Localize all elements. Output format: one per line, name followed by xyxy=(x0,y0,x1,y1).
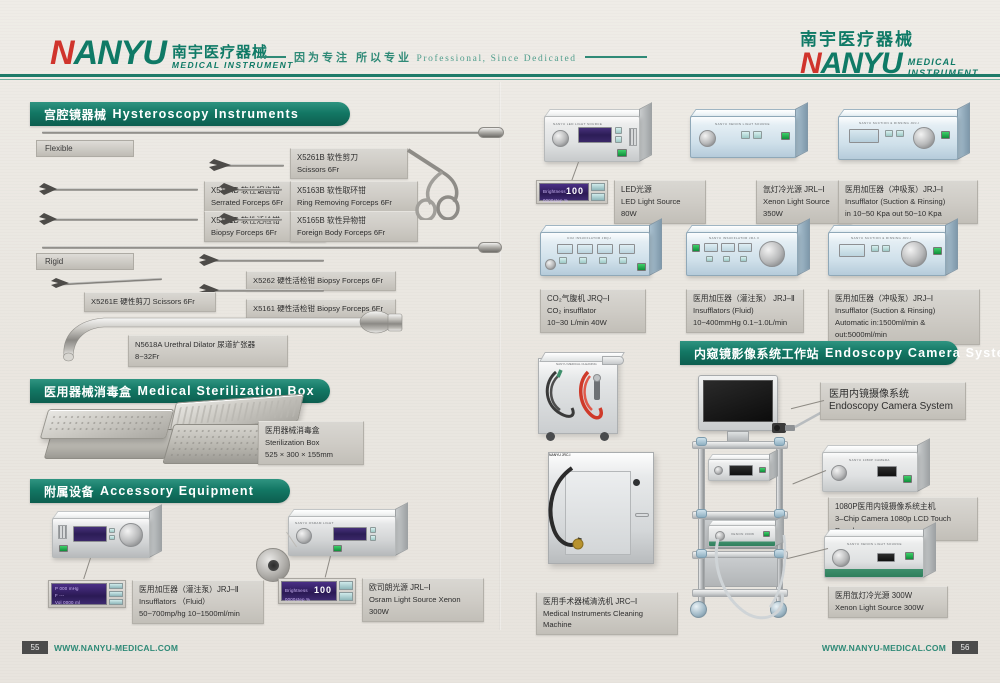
cleaning-machine-handle[interactable] xyxy=(635,513,649,517)
tray-lid-closed xyxy=(40,409,175,439)
lcd-key-up-osram[interactable] xyxy=(339,581,353,590)
device-power-suction1[interactable] xyxy=(941,131,950,139)
device-1080p-camera: NANYU 1080P CAMERA xyxy=(822,452,918,492)
device-roller-knob-suction2[interactable] xyxy=(901,241,927,267)
device-co2-insufflator: CO2 INSUFFLATOR JRQ-I xyxy=(540,232,650,276)
page-number-left: 55 xyxy=(22,641,48,654)
label-insufflator-fluid-2: 医用加压器（灌注泵） JRJ–Ⅱ Insufflators (Fluid) 10… xyxy=(686,289,804,333)
lcd-line-3: Vol 0000 ml xyxy=(55,600,80,605)
catalog-page: NANYU 南宇医疗器械 MEDICAL INSTRUMENT 因为专注 所以专… xyxy=(0,0,1000,683)
trolley-brand-text: NANYU MEDICAL CLEANING xyxy=(556,362,597,366)
label-sterilization-cn: 医用器械消毒盒 xyxy=(265,425,357,437)
label-suction2-cn: 医用加压器（冲吸泵）JRJ–Ⅰ xyxy=(835,293,973,305)
label-suction2-en: Insufflator (Suction & Rinsing) xyxy=(835,305,973,317)
device-button-1-co2[interactable] xyxy=(559,257,567,264)
device-side-face xyxy=(149,504,162,558)
instrument-shaft-biopsy-flex xyxy=(48,218,198,221)
trolley-tray xyxy=(602,356,624,365)
section-accessory-cn: 附属设备 xyxy=(44,483,94,500)
device-side-co2 xyxy=(649,218,662,276)
endoscope-head-illustration xyxy=(768,409,828,449)
device-display-3-fluid2 xyxy=(738,243,752,252)
instrument-shaft-serrated xyxy=(48,188,198,191)
camera-front: NANYU 1080P CAMERA xyxy=(822,452,918,492)
label-osram-cn: 欧司朗光源 JRL–Ⅰ xyxy=(369,582,477,594)
jaw-icon-scissors-flex xyxy=(208,156,232,174)
endoscopy-cart: XENON 300W xyxy=(690,375,830,620)
device-brand-text-led: NANYU LED LIGHT SOURCE xyxy=(553,122,602,126)
device-display-1-co2 xyxy=(557,244,573,254)
ccu-power[interactable] xyxy=(759,467,766,473)
cart-xenon-front: NANYU XENON LIGHT SOURCE xyxy=(824,536,924,578)
label-co2-cn: CO₂气腹机 JRQ–Ⅰ xyxy=(547,293,639,305)
device-side-face-osram xyxy=(395,502,408,556)
label-suction1-spec: in 10~50 Kpa out 50~10 Kpa xyxy=(845,208,971,220)
cart-joint-3 xyxy=(696,509,707,518)
footer-url-right[interactable]: WWW.NANYU-MEDICAL.COM xyxy=(822,641,946,654)
cart-cable-illustration xyxy=(710,535,810,627)
lcd-key-down-osram[interactable] xyxy=(339,592,353,601)
device-front-face-osram: NANYU OSRAM LIGHT xyxy=(288,516,396,556)
camera-brand-text: NANYU 1080P CAMERA xyxy=(849,458,890,462)
state-label-rigid: Rigid xyxy=(36,253,134,270)
label-insufflator-cn: 医用加压器（灌注泵）JRJ–Ⅱ xyxy=(139,584,257,596)
section-camera-cn: 内窥镜影像系统工作站 xyxy=(694,345,819,362)
rigid-scope-handle xyxy=(478,242,502,253)
leader-line-led xyxy=(571,162,579,181)
label-co2-spec: 10~30 L/min 40W xyxy=(547,317,639,329)
device-front-suction2: NANYU SUCTION & RINSING JRJ-I xyxy=(828,232,946,276)
device-button-up-osram[interactable] xyxy=(370,527,376,533)
device-xenon-light-source: NANYU XENON LIGHT SOURCE xyxy=(690,116,796,158)
camera-power[interactable] xyxy=(903,475,912,483)
label-insufflator-fluid: 医用加压器（灌注泵）JRJ–Ⅱ Insufflators （Fluid） 50~… xyxy=(132,580,264,624)
device-button-down[interactable] xyxy=(109,535,115,540)
label-sterilization-en: Sterilization Box xyxy=(265,437,357,449)
device-brand-text-xenon: NANYU XENON LIGHT SOURCE xyxy=(715,122,770,126)
device-button-3-fluid2[interactable] xyxy=(740,256,747,262)
page-header: NANYU 南宇医疗器械 MEDICAL INSTRUMENT 因为专注 所以专… xyxy=(0,0,1000,82)
brand-logo-right: 南宇医疗器械 NANYU MEDICAL INSTRUMENT xyxy=(800,30,979,79)
device-insufflator-fluid-2: NANYU INSUFFLATOR JRJ-II xyxy=(686,232,798,276)
label-insufflator-en: Insufflators （Fluid） xyxy=(139,596,257,608)
lcd-keys-osram[interactable] xyxy=(339,581,353,601)
ccu-front xyxy=(708,459,770,481)
device-button-3-co2[interactable] xyxy=(599,257,607,264)
lcd-callout-led: Brightness 100 0000step % xyxy=(536,180,608,204)
tray-perforations-closed xyxy=(46,414,168,434)
cart-xenon-brand-text: NANYU XENON LIGHT SOURCE xyxy=(847,542,902,546)
brand-tagline: 因为专注 所以专业 Professional, Since Dedicated xyxy=(258,48,647,66)
device-vent-led xyxy=(629,128,637,146)
label-fluid2-cn: 医用加压器（灌注泵） JRJ–Ⅱ xyxy=(693,293,797,305)
device-roller-knob-suction1[interactable] xyxy=(913,127,935,149)
lcd-sub-led: 0000step % xyxy=(543,198,568,203)
label-foreign-en: Foreign Body Forceps 6Fr xyxy=(297,227,411,239)
leader-line-osram xyxy=(325,556,331,578)
header-rule-secondary xyxy=(0,79,1000,80)
label-endoscopy-camera-system: 医用内镜摄像系统 Endoscopy Camera System xyxy=(820,382,966,420)
cart-xenon-side xyxy=(923,522,936,578)
leader-line-insufflator xyxy=(83,558,91,579)
lcd-key-2[interactable] xyxy=(109,591,123,597)
cart-xenon-power[interactable] xyxy=(905,552,914,560)
section-hysteroscopy-en: Hysteroscopy Instruments xyxy=(113,107,299,121)
device-brand-text-suction1: NANYU SUCTION & RINSING JRJ-I xyxy=(859,121,919,125)
camera-coupler-port[interactable] xyxy=(831,465,847,481)
device-front-co2: CO2 INSUFFLATOR JRQ-I xyxy=(540,232,650,276)
label-xenon-en: Xenon Light Source xyxy=(763,196,845,208)
device-side-fluid2 xyxy=(797,218,810,276)
lcd-line-1: P 000 mHg xyxy=(55,586,79,591)
label-co2-insufflator: CO₂气腹机 JRQ–Ⅰ CO₂ insufflator 10~30 L/min… xyxy=(540,289,646,333)
device-osram-light-source: NANYU OSRAM LIGHT xyxy=(288,516,396,556)
label-fluid2-spec: 10~400mmHg 0.1~1.0L/min xyxy=(693,317,797,329)
instrument-shaft-x5161 xyxy=(212,289,324,292)
cleaning-trolley-upper: NANYU MEDICAL CLEANING xyxy=(538,350,630,446)
light-guide-connector-core xyxy=(268,560,279,571)
label-scissors-flex-cn: X5261B 软性剪刀 xyxy=(297,152,401,164)
lcd-key-up-led[interactable] xyxy=(591,183,605,191)
label-cleaning-machine: 医用手术器械清洗机 JRC–Ⅰ Medical Instruments Clea… xyxy=(536,592,678,635)
lcd-glass-insufflator: P 000 mHg F --- Vol 0000 ml xyxy=(51,583,107,605)
label-cleaning-cn: 医用手术器械清洗机 JRC–Ⅰ xyxy=(543,596,671,608)
device-front-led: NANYU LED LIGHT SOURCE xyxy=(544,116,640,162)
section-sterilization-cn: 医用器械消毒盒 xyxy=(44,383,132,400)
state-label-flexible: Flexible xyxy=(36,140,134,157)
brand-sub-en-line1: MEDICAL xyxy=(908,57,979,68)
lcd-title-osram: Brightness xyxy=(285,588,308,593)
device-brand-text-co2: CO2 INSUFFLATOR JRQ-I xyxy=(567,236,612,240)
device-power-switch[interactable] xyxy=(59,545,68,552)
device-button-1-fluid2[interactable] xyxy=(706,256,713,262)
device-button-a-suction1[interactable] xyxy=(885,130,893,137)
lcd-keys-insufflator[interactable] xyxy=(109,583,123,605)
section-header-camera-system: 内窥镜影像系统工作站 Endoscopy Camera System xyxy=(680,341,958,365)
device-button-up[interactable] xyxy=(109,528,115,533)
device-cleaning-machine: NANYU JRC-I xyxy=(548,452,654,564)
device-display-2-fluid2 xyxy=(721,243,735,252)
label-ring-en: Ring Removing Forceps 6Fr xyxy=(297,197,411,209)
device-display-3-co2 xyxy=(597,244,613,254)
device-button-2-co2[interactable] xyxy=(579,257,587,264)
device-display-4-co2 xyxy=(619,244,635,254)
label-foreign-cn: X5165B 软性异物钳 xyxy=(297,215,411,227)
cart-monitor xyxy=(698,375,778,431)
device-led-light-source: NANYU LED LIGHT SOURCE xyxy=(544,116,640,162)
cart-joint-1 xyxy=(696,437,707,446)
device-power-switch-osram[interactable] xyxy=(333,545,342,552)
trolley-caster-right xyxy=(600,432,609,441)
label-camera-system-en: Endoscopy Camera System xyxy=(829,401,957,413)
label-insufflator-spec: 50~700mp/hg 10~1500ml/min xyxy=(139,608,257,620)
label-osram-light-source: 欧司朗光源 JRL–Ⅰ Osram Light Source Xenon 300… xyxy=(362,578,484,622)
label-suction1-cn: 医用加压器（冲吸泵）JRJ–Ⅰ xyxy=(845,184,971,196)
device-insufflator-suction-2: NANYU SUCTION & RINSING JRJ-I xyxy=(828,232,946,276)
lcd-callout-osram: Brightness 100 0000step % xyxy=(278,578,356,604)
device-button-b-suction1[interactable] xyxy=(896,130,904,137)
cart-xenon-port[interactable] xyxy=(832,549,850,567)
label-cart-xenon-300w: 医用氙灯冷光源 300W Xenon Light Source 300W xyxy=(828,586,948,618)
jaw-icon-biopsy-flex xyxy=(38,211,58,227)
label-suction1-en: Insufflator (Suction & Rinsing) xyxy=(845,196,971,208)
tagline-cn: 因为专注 所以专业 xyxy=(294,52,412,64)
device-button-up-led[interactable] xyxy=(615,127,622,134)
lcd-keys-led[interactable] xyxy=(591,183,605,201)
trolley-hose-illustration xyxy=(542,368,618,432)
device-screen-osram xyxy=(333,527,367,541)
camera-display xyxy=(877,466,897,477)
device-brand-text-fluid2: NANYU INSUFFLATOR JRJ-II xyxy=(709,236,759,240)
sterilization-tray-closed xyxy=(44,405,174,465)
jaw-icon-foreign xyxy=(218,211,240,227)
device-front-xenon: NANYU XENON LIGHT SOURCE xyxy=(690,116,796,158)
device-power-co2[interactable] xyxy=(637,263,646,271)
lcd-title-led: Brightness xyxy=(543,189,566,194)
device-button-a-suction2[interactable] xyxy=(871,245,879,252)
device-display-1-fluid2 xyxy=(704,243,718,252)
lcd-key-down-led[interactable] xyxy=(591,193,605,201)
label-suction2-spec: Automatic in:1500ml/min & out:5000ml/min xyxy=(835,317,973,341)
section-header-accessory: 附属设备 Accessory Equipment xyxy=(30,479,290,503)
device-screen xyxy=(73,526,107,542)
device-button-a-xenon[interactable] xyxy=(741,131,750,139)
cart-caster-left xyxy=(690,601,707,618)
device-button-down-led[interactable] xyxy=(615,136,622,143)
device-light-port-osram[interactable] xyxy=(296,528,312,544)
device-side-suction1 xyxy=(957,102,970,160)
instrument-shaft-x5261e xyxy=(62,277,162,285)
device-side-xenon xyxy=(795,102,808,158)
device-button-2-fluid2[interactable] xyxy=(723,256,730,262)
brand-wordmark: NANYU xyxy=(50,36,166,70)
camera-side xyxy=(917,438,930,492)
label-ring-cn: X5163B 软性取环钳 xyxy=(297,185,411,197)
device-button-4-co2[interactable] xyxy=(619,257,627,264)
label-instrument-x5262: X5262 硬性活检钳 Biopsy Forceps 6Fr xyxy=(246,271,396,291)
device-side-suction2 xyxy=(945,218,958,276)
device-screen-suction1 xyxy=(849,129,879,143)
device-front-suction1: NANYU SUCTION & RINSING JRJ-I xyxy=(838,116,958,160)
label-insufflator-suction-2: 医用加压器（冲吸泵）JRJ–Ⅰ Insufflator (Suction & R… xyxy=(828,289,980,345)
scissor-handle-illustration xyxy=(398,140,488,220)
label-fluid2-en: Insufflators (Fluid) xyxy=(693,305,797,317)
device-cart-xenon-300w: NANYU XENON LIGHT SOURCE xyxy=(824,536,924,578)
trolley-caster-left xyxy=(546,432,555,441)
footer-url-left[interactable]: WWW.NANYU-MEDICAL.COM xyxy=(54,641,178,654)
cleaning-machine-brand-text: NANYU JRC-I xyxy=(549,453,653,457)
page-footer: 55 WWW.NANYU-MEDICAL.COM WWW.NANYU-MEDIC… xyxy=(0,641,1000,683)
label-sterilization-box: 医用器械消毒盒 Sterilization Box 525 × 300 × 15… xyxy=(258,421,364,465)
rigid-scope-shaft xyxy=(42,246,482,249)
device-power-suction2[interactable] xyxy=(933,247,942,255)
device-insufflator-suction-1: NANYU SUCTION & RINSING JRJ-I xyxy=(838,116,958,160)
section-accessory-en: Accessory Equipment xyxy=(100,484,254,498)
label-cart-xenon-cn: 医用氙灯冷光源 300W xyxy=(835,590,941,602)
lcd-sub-osram: 0000step % xyxy=(285,597,310,602)
lcd-glass-osram: Brightness 100 0000step % xyxy=(281,581,337,601)
lcd-value-led: 100 xyxy=(566,186,584,196)
device-screen-suction2 xyxy=(839,244,865,257)
device-insufflator-fluid xyxy=(52,518,150,558)
device-button-b-xenon[interactable] xyxy=(753,131,762,139)
device-display-2-co2 xyxy=(577,244,593,254)
lcd-key-3[interactable] xyxy=(109,599,123,605)
device-front-fluid2: NANYU INSUFFLATOR JRJ-II xyxy=(686,232,798,276)
section-camera-en: Endoscopy Camera System xyxy=(825,346,1000,360)
device-light-port-led[interactable] xyxy=(552,130,569,147)
label-led-light-source: LED光源 LED Light Source 80W xyxy=(614,180,706,224)
device-button-down-osram[interactable] xyxy=(370,535,376,541)
device-roller-pump-fluid2[interactable] xyxy=(759,241,785,267)
flexible-scope-shaft xyxy=(42,131,482,134)
label-xenon-cn: 氙灯冷光源 JRL–Ⅰ xyxy=(763,184,845,196)
label-cleaning-en: Medical Instruments Cleaning Machine xyxy=(543,608,671,631)
ccu-side xyxy=(769,449,778,481)
jaw-icon-serrated xyxy=(38,181,58,197)
cleaning-machine-indicator[interactable] xyxy=(633,479,640,486)
label-1080p-cn: 1080P医用内镜摄像系统主机 xyxy=(835,501,971,513)
device-screen-led xyxy=(578,127,612,143)
device-front-face xyxy=(52,518,150,558)
label-urethral-dilator: N5618A Urethral Dilator 尿道扩张器 8~32Fr xyxy=(128,335,288,367)
lcd-value-osram: 100 xyxy=(314,585,332,595)
page-number-right: 56 xyxy=(952,641,978,654)
device-button-b-suction2[interactable] xyxy=(882,245,890,252)
label-instrument-scissors-flex: X5261B 软性剪刀 Scissors 6Fr xyxy=(290,148,408,179)
label-scissors-flex-en: Scissors 6Fr xyxy=(297,164,401,176)
device-gas-port-co2[interactable] xyxy=(545,259,556,270)
device-side-led xyxy=(639,102,652,162)
device-power-led[interactable] xyxy=(617,149,627,157)
cleaning-machine-hose xyxy=(542,464,588,564)
jaw-icon-x5262 xyxy=(198,252,220,268)
tagline-dash-left xyxy=(258,56,286,58)
label-led-cn: LED光源 xyxy=(621,184,699,196)
tagline-dash-right xyxy=(585,56,647,58)
lcd-line-2: F --- xyxy=(55,593,64,598)
lcd-key-1[interactable] xyxy=(109,583,123,589)
label-osram-spec: 300W xyxy=(369,606,477,618)
cart-xenon-display xyxy=(877,553,895,562)
label-camera-system-cn: 医用内镜摄像系统 xyxy=(829,389,957,401)
label-co2-en: CO₂ insufflator xyxy=(547,305,639,317)
device-brand-text-osram: NANYU OSRAM LIGHT xyxy=(295,521,334,525)
device-brand-text-suction2: NANYU SUCTION & RINSING JRJ-I xyxy=(851,236,911,240)
tagline-en: Professional, Since Dedicated xyxy=(417,54,577,64)
device-power-fluid2[interactable] xyxy=(692,244,700,252)
label-sterilization-size: 525 × 300 × 155mm xyxy=(265,449,357,461)
lcd-glass-led: Brightness 100 0000step % xyxy=(539,183,589,201)
section-header-hysteroscopy: 宫腔镜器械 Hysteroscopy Instruments xyxy=(30,102,350,126)
device-power-xenon[interactable] xyxy=(781,132,790,140)
label-xenon-spec: 350W xyxy=(763,208,845,220)
label-cart-xenon-en: Xenon Light Source 300W xyxy=(835,602,941,614)
device-roller-pump-knob[interactable] xyxy=(119,523,143,547)
lcd-callout-insufflator: P 000 mHg F --- Vol 0000 ml xyxy=(48,580,126,608)
device-vent xyxy=(58,525,67,539)
ccu-screen xyxy=(729,465,753,476)
page-gutter xyxy=(499,82,501,630)
flexible-scope-handle xyxy=(478,127,504,138)
header-rule-primary xyxy=(0,74,1000,77)
jaw-icon-x5261e xyxy=(50,276,70,290)
ccu-camera-port[interactable] xyxy=(714,466,723,475)
cart-camera-control-unit xyxy=(708,459,770,481)
instrument-shaft-x5262 xyxy=(212,259,324,262)
jaw-icon-ring xyxy=(218,181,240,197)
section-hysteroscopy-cn: 宫腔镜器械 xyxy=(44,106,107,123)
device-light-port-xenon[interactable] xyxy=(699,130,716,147)
cart-joint-5 xyxy=(696,549,707,558)
label-osram-en: Osram Light Source Xenon xyxy=(369,594,477,606)
label-led-en: LED Light Source xyxy=(621,196,699,208)
monitor-screen xyxy=(703,380,773,422)
